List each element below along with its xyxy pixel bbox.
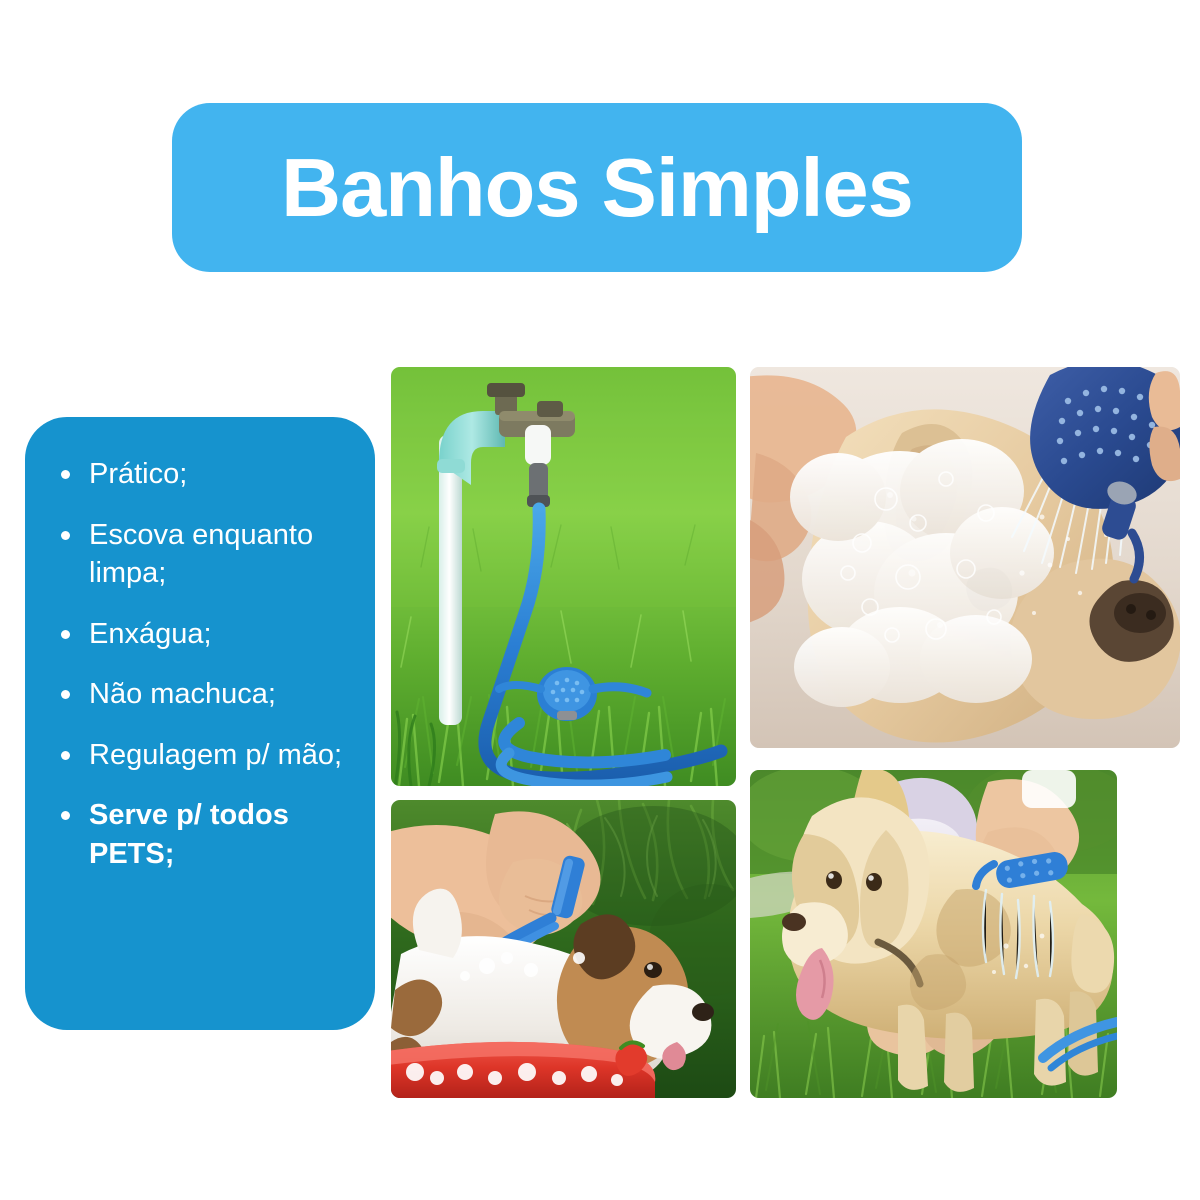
bullet-icon — [61, 531, 70, 540]
feature-label: Regulagem p/ mão; — [89, 739, 342, 771]
list-item: Não machuca; — [45, 675, 357, 714]
list-item: Prático; — [45, 455, 357, 494]
list-item: Serve p/ todos PETS; — [45, 796, 357, 873]
promo-page: Banhos Simples Prático; Escova enquanto … — [0, 0, 1200, 1200]
feature-label: Enxágua; — [89, 618, 212, 650]
bullet-icon — [61, 630, 70, 639]
terrier-bath-photo — [391, 800, 736, 1098]
list-item: Escova enquanto limpa; — [45, 516, 357, 593]
bullet-icon — [61, 811, 70, 820]
dog-shower-photo — [750, 367, 1180, 748]
gallery-photo-terrier — [391, 800, 736, 1098]
garden-hose-photo — [391, 367, 736, 786]
bullet-icon — [61, 690, 70, 699]
features-panel: Prático; Escova enquanto limpa; Enxágua;… — [25, 417, 375, 1030]
feature-label: Não machuca; — [89, 678, 276, 710]
gallery-photo-hose — [391, 367, 736, 786]
bullet-icon — [61, 751, 70, 760]
feature-label: Prático; — [89, 458, 187, 490]
bullet-icon — [61, 470, 70, 479]
gallery-photo-shower — [750, 367, 1180, 748]
list-item: Regulagem p/ mão; — [45, 736, 357, 775]
title-banner: Banhos Simples — [172, 103, 1022, 272]
page-title: Banhos Simples — [281, 146, 913, 229]
features-list: Prático; Escova enquanto limpa; Enxágua;… — [45, 455, 357, 874]
feature-label: Serve p/ todos PETS; — [89, 799, 289, 870]
retriever-wash-photo — [750, 770, 1117, 1098]
gallery-photo-retriever — [750, 770, 1117, 1098]
feature-label: Escova enquanto limpa; — [89, 519, 313, 590]
list-item: Enxágua; — [45, 615, 357, 654]
